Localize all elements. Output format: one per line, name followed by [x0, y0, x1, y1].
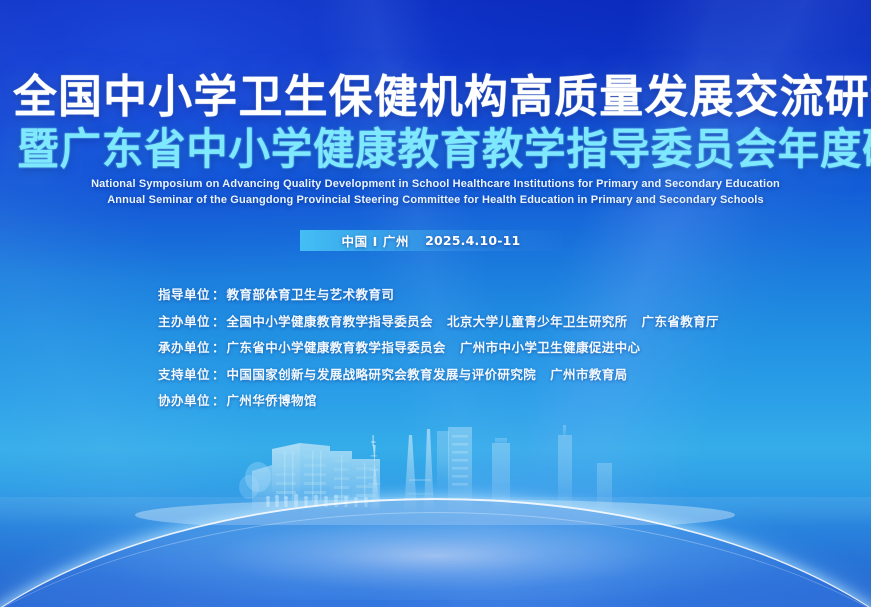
organizer-list: 指导单位：教育部体育卫生与艺术教育司主办单位：全国中小学健康教育教学指导委员会北…	[158, 288, 719, 408]
organizer-row: 协办单位：广州华侨博物馆	[158, 394, 719, 408]
organizer-label: 承办单位	[158, 341, 210, 355]
organizer-row: 指导单位：教育部体育卫生与艺术教育司	[158, 288, 719, 302]
organizer-row: 支持单位：中国国家创新与发展战略研究会教育发展与评价研究院广州市教育局	[158, 368, 719, 382]
organizer-value: 广东省中小学健康教育教学指导委员会	[227, 341, 446, 355]
english-subtitle-block: National Symposium on Advancing Quality …	[0, 177, 871, 208]
organizer-value: 广州市中小学卫生健康促进中心	[460, 341, 641, 355]
organizer-value: 中国国家创新与发展战略研究会教育发展与评价研究院	[227, 368, 537, 382]
banner-content: 全国中小学卫生保健机构高质量发展交流研讨活动 暨广东省中小学健康教育教学指导委员…	[0, 0, 871, 607]
organizer-label: 协办单位	[158, 394, 210, 408]
conference-banner: 全国中小学卫生保健机构高质量发展交流研讨活动 暨广东省中小学健康教育教学指导委员…	[0, 0, 871, 607]
organizer-value: 广州市教育局	[550, 368, 627, 382]
organizer-separator: ：	[210, 288, 227, 302]
organizer-value: 教育部体育卫生与艺术教育司	[227, 288, 395, 302]
organizer-separator: ：	[210, 315, 227, 329]
english-subtitle-line-2: Annual Seminar of the Guangdong Provinci…	[0, 193, 871, 209]
event-meta-bar: 中国 I 广州 2025.4.10-11	[300, 230, 562, 251]
organizer-row: 主办单位：全国中小学健康教育教学指导委员会北京大学儿童青少年卫生研究所广东省教育…	[158, 315, 719, 329]
organizer-label: 主办单位	[158, 315, 210, 329]
event-date: 2025.4.10-11	[425, 233, 520, 248]
organizer-values: 教育部体育卫生与艺术教育司	[227, 288, 395, 302]
organizer-separator: ：	[210, 394, 227, 408]
title-line-primary: 全国中小学卫生保健机构高质量发展交流研讨活动	[13, 72, 858, 122]
organizer-label: 指导单位	[158, 288, 210, 302]
title-line-secondary: 暨广东省中小学健康教育教学指导委员会年度研讨活动	[17, 126, 853, 174]
english-subtitle-line-1: National Symposium on Advancing Quality …	[0, 177, 871, 193]
organizer-value: 广东省教育厅	[642, 315, 719, 329]
organizer-separator: ：	[210, 368, 227, 382]
organizer-values: 广东省中小学健康教育教学指导委员会广州市中小学卫生健康促进中心	[227, 341, 641, 355]
organizer-values: 广州华侨博物馆	[227, 394, 317, 408]
organizer-value: 广州华侨博物馆	[227, 394, 317, 408]
organizer-value: 全国中小学健康教育教学指导委员会	[227, 315, 433, 329]
organizer-values: 全国中小学健康教育教学指导委员会北京大学儿童青少年卫生研究所广东省教育厅	[227, 315, 719, 329]
organizer-value: 北京大学儿童青少年卫生研究所	[447, 315, 628, 329]
title-block: 全国中小学卫生保健机构高质量发展交流研讨活动 暨广东省中小学健康教育教学指导委员…	[0, 72, 871, 174]
organizer-separator: ：	[210, 341, 227, 355]
organizer-row: 承办单位：广东省中小学健康教育教学指导委员会广州市中小学卫生健康促进中心	[158, 341, 719, 355]
organizer-label: 支持单位	[158, 368, 210, 382]
event-location: 中国 I 广州	[342, 231, 410, 250]
organizer-values: 中国国家创新与发展战略研究会教育发展与评价研究院广州市教育局	[227, 368, 628, 382]
